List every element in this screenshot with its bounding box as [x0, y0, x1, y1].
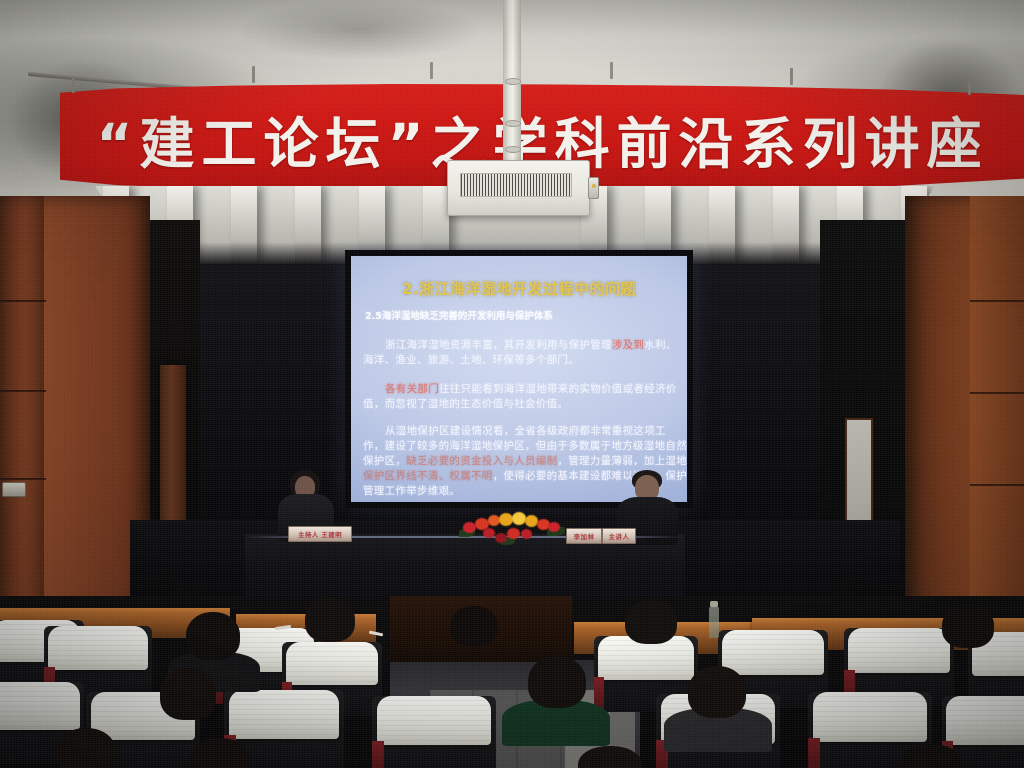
audience-head — [186, 612, 240, 660]
projector-status-led — [588, 177, 599, 199]
panel-seam — [970, 484, 1024, 486]
audience-head — [942, 604, 994, 648]
flower — [483, 528, 495, 538]
flower — [525, 515, 538, 527]
banner-hook — [610, 62, 613, 79]
seat-cover — [0, 682, 80, 730]
pole-ring — [505, 120, 521, 127]
seat-accent — [372, 741, 384, 768]
placard-right-a-text: 李加林 — [574, 531, 595, 541]
slide-p3-tail: ，管理力量薄弱，加上湿地 — [557, 455, 687, 467]
seat-cover — [286, 642, 378, 685]
seat-cover — [946, 696, 1024, 745]
stage-door-right[interactable] — [845, 418, 873, 527]
slide-p3-highlight: 缺乏必要的资金投入与人员编制 — [406, 455, 557, 467]
placard-right-a: 李加林 — [566, 528, 602, 544]
seat-cover — [229, 690, 339, 739]
flower — [548, 522, 560, 532]
slide-p1-highlight: 涉及到 — [612, 339, 644, 351]
audience-head — [160, 668, 216, 720]
audience-head — [56, 728, 116, 768]
audience-head — [688, 666, 746, 718]
projection-screen: 2.浙江海洋湿地开发过程中的问题 2.5海洋湿地缺乏完善的开发利用与保护体系 浙… — [351, 256, 687, 502]
water-bottle-cap — [710, 601, 718, 607]
slide-p2-highlight: 各有关部门 — [385, 383, 439, 395]
audience-head — [528, 656, 586, 708]
slide-paragraph-1: 浙江海洋湿地资源丰富，其开发利用与保护管理涉及到水利、海洋、渔业、旅游、土地、环… — [363, 338, 687, 368]
audience-seat[interactable] — [372, 696, 496, 768]
lecture-hall-photo: “建工论坛”之学科前沿系列讲座 — [0, 0, 1024, 768]
banner-hook — [72, 76, 75, 93]
seat-cover — [377, 696, 491, 745]
placard-right-b: 主讲人 — [602, 528, 636, 544]
flower — [507, 528, 520, 539]
seat-cover — [813, 692, 927, 742]
slide-subtitle: 2.5海洋湿地缺乏完善的开发利用与保护体系 — [365, 308, 685, 322]
projector-vent-grille — [460, 173, 572, 197]
placard-right-b-text: 主讲人 — [609, 531, 630, 541]
flower — [512, 512, 526, 525]
audience-head — [450, 606, 498, 646]
panel-seam — [0, 390, 46, 392]
slide-paragraph-2: 各有关部门往往只能看到海洋湿地带来的实物价值或者经济价值，而忽视了湿地的生态价值… — [363, 382, 687, 412]
slide-title: 2.浙江海洋湿地开发过程中的问题 — [351, 278, 687, 299]
pole-ring — [505, 146, 521, 153]
slide-p3-highlight-2: 保护区界线不清、权属不明 — [363, 470, 493, 482]
banner-hook — [252, 66, 255, 83]
ceiling-projector — [447, 160, 590, 216]
right-wood-panel-far — [970, 196, 1024, 616]
placard-left-text: 主持人 王建明 — [298, 529, 342, 539]
banner-hook — [968, 78, 971, 95]
pole-ring — [505, 78, 521, 85]
left-wood-panel-inner — [0, 196, 44, 616]
banner-hook — [430, 62, 433, 79]
seat-accent — [808, 738, 820, 768]
seat-cover — [848, 628, 949, 673]
panel-seam — [970, 300, 1024, 302]
seat-cover — [722, 630, 823, 675]
slide-p1-lead: 浙江海洋湿地资源丰富，其开发利用与保护管理 — [385, 339, 612, 351]
panel-seam — [0, 478, 46, 480]
flower — [499, 513, 513, 526]
water-bottle — [709, 606, 719, 638]
placard-left: 主持人 王建明 — [288, 526, 352, 542]
panel-seam — [0, 300, 46, 302]
audience-head — [625, 600, 677, 644]
flower — [521, 529, 532, 539]
audience-area — [0, 596, 1024, 768]
light-switch-plate[interactable] — [2, 482, 26, 497]
banner-hook — [790, 68, 793, 85]
seat-cover — [48, 626, 147, 670]
audience-head — [305, 598, 355, 642]
panel-seam — [970, 392, 1024, 394]
flower — [495, 533, 507, 543]
floral-arrangement — [455, 508, 570, 544]
